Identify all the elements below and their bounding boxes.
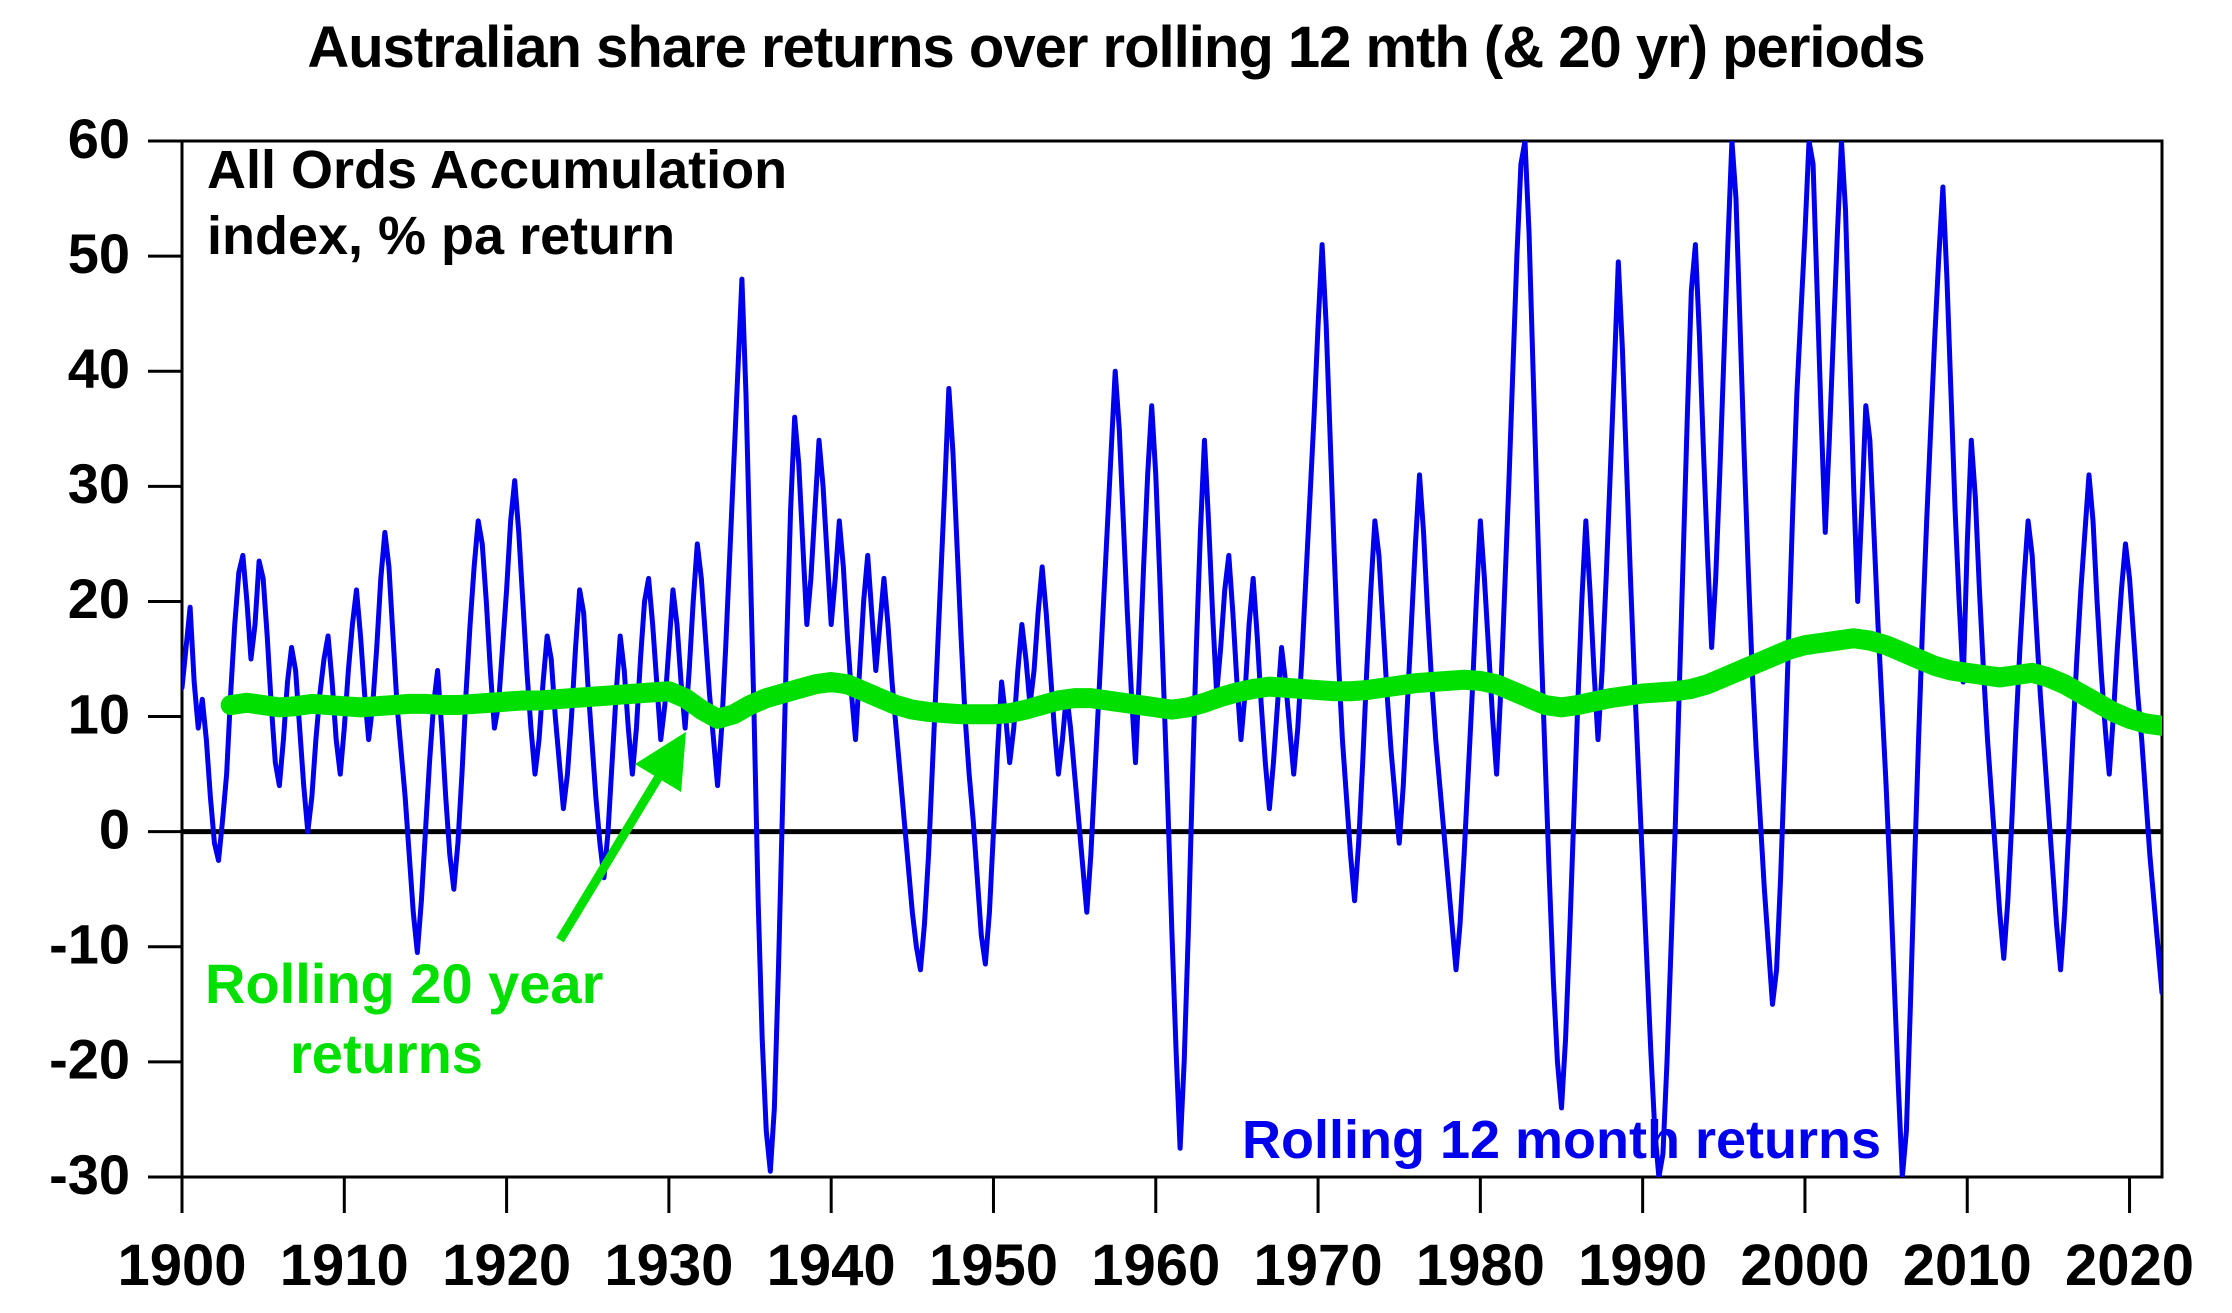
- y-tick-label: -10: [49, 913, 130, 976]
- x-tick-label: 2020: [2065, 1233, 2194, 1298]
- x-tick-label: 1940: [767, 1233, 896, 1298]
- green-series-label-line1: Rolling 20 year: [205, 952, 603, 1015]
- x-tick-label: 1970: [1254, 1233, 1383, 1298]
- y-tick-label: 10: [68, 682, 130, 745]
- x-axis: 1900191019201930194019501960197019801990…: [117, 1177, 2194, 1298]
- y-tick-label: 50: [68, 222, 130, 285]
- x-tick-label: 2010: [1903, 1233, 2032, 1298]
- y-tick-label: 30: [68, 452, 130, 515]
- x-tick-label: 1920: [442, 1233, 571, 1298]
- y-tick-label: 20: [68, 567, 130, 630]
- x-tick-label: 1960: [1091, 1233, 1220, 1298]
- y-tick-label: -30: [49, 1143, 130, 1206]
- x-tick-label: 1990: [1578, 1233, 1707, 1298]
- x-tick-label: 1950: [929, 1233, 1058, 1298]
- y-tick-label: 60: [68, 107, 130, 170]
- x-tick-label: 1900: [117, 1233, 246, 1298]
- x-tick-label: 1980: [1416, 1233, 1545, 1298]
- chart-root: Australian share returns over rolling 12…: [0, 0, 2232, 1313]
- green-series-label-line2: returns: [290, 1022, 483, 1085]
- chart-svg: 6050403020100-10-20-30 19001910192019301…: [0, 0, 2232, 1313]
- y-tick-label: 40: [68, 337, 130, 400]
- index-note-line1: All Ords Accumulation: [207, 140, 787, 200]
- y-axis: 6050403020100-10-20-30: [49, 107, 182, 1206]
- y-tick-label: 0: [99, 797, 130, 860]
- x-tick-label: 2000: [1740, 1233, 1869, 1298]
- index-note-line2: index, % pa return: [207, 206, 675, 266]
- x-tick-label: 1930: [604, 1233, 733, 1298]
- y-tick-label: -20: [49, 1028, 130, 1091]
- x-tick-label: 1910: [280, 1233, 409, 1298]
- blue-series-label: Rolling 12 month returns: [1242, 1110, 1881, 1170]
